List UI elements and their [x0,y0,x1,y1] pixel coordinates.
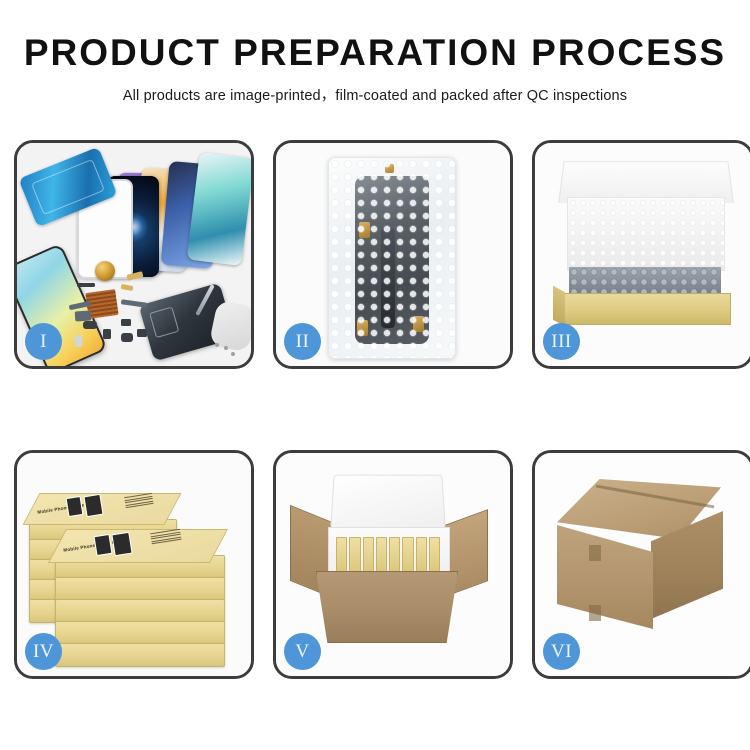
flex-cable [75,310,92,321]
step-badge-4: IV [25,633,62,670]
wrapped-flex-cable [381,228,395,328]
box-front-yellow [561,293,731,325]
screws-group [215,343,237,357]
flex-cable [121,299,147,308]
wireless-charging-coil [95,261,115,281]
box-print-thumbnail [94,534,113,556]
step-badge-3: III [543,323,580,360]
stacked-box [55,643,225,667]
step-panel-3: III [532,140,750,369]
gold-tab [357,320,368,336]
bubble-wrapped-contents [569,267,721,295]
carton-tape-tab [589,605,601,621]
part-chip [121,319,131,326]
header: PRODUCT PREPARATION PROCESS All products… [0,0,750,105]
foam-sheet [567,197,725,271]
step-panel-2: II [273,140,513,369]
part-chip [137,329,147,337]
carton-body [316,571,458,643]
part-chip [121,333,133,342]
stacked-box [55,577,225,601]
product-preparation-infographic: PRODUCT PREPARATION PROCESS All products… [0,0,750,750]
step-panel-5: V [273,450,513,679]
carton-front-face [557,525,653,629]
part-chip [83,321,97,329]
gold-tab [385,164,394,173]
bubble-wrap-bag [328,157,456,359]
step-badge-6: VI [543,633,580,670]
box-side-yellow [553,286,565,326]
part-chip [75,335,82,347]
gold-contact-strip [121,284,134,291]
page-title: PRODUCT PREPARATION PROCESS [0,34,750,71]
gold-tab [359,222,370,238]
phone-device-1 [187,152,254,266]
step-panel-6: VI [532,450,750,679]
step-badge-5: V [284,633,321,670]
steps-grid: I II [14,140,736,679]
step-badge-1: I [25,323,62,360]
carton-tape-tab [589,545,601,561]
stacked-box [55,621,225,645]
part-chip [77,283,95,287]
gold-tab [413,316,424,332]
step-panel-1: I [14,140,254,369]
box-print-thumbnail [111,532,132,557]
part-chip [103,329,111,339]
stacked-box [55,599,225,623]
box-print-thumbnail [83,494,103,517]
foam-case-lid [330,475,446,529]
box-print-thumbnail [66,496,84,517]
step-panel-4: Mobile Phone Spare Parts Mobile Phone Sp… [14,450,254,679]
step-badge-2: II [284,323,321,360]
page-subtitle: All products are image-printed，film-coat… [0,84,750,105]
box-stack: Mobile Phone Spare Parts Mobile Phone Sp… [25,467,241,667]
